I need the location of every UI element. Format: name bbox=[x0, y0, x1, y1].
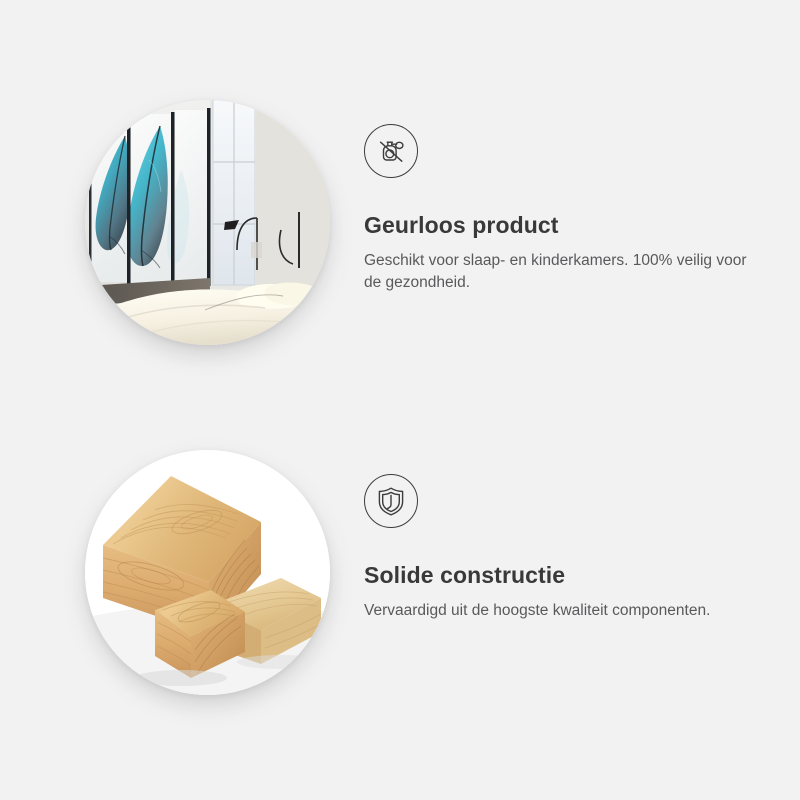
feature-photo-wrapper bbox=[85, 100, 330, 345]
feature-photo-wrapper bbox=[85, 450, 330, 695]
feature-title: Solide constructie bbox=[364, 562, 760, 590]
feature-text-column: Solide constructie Vervaardigd uit de ho… bbox=[360, 450, 760, 622]
product-feature-page: Geurloos product Geschikt voor slaap- en… bbox=[0, 0, 800, 800]
wooden-beams-photo bbox=[85, 450, 330, 695]
section-divider bbox=[0, 400, 800, 401]
bedroom-feather-artwork-photo bbox=[85, 100, 330, 345]
no-fragrance-icon bbox=[364, 124, 418, 178]
feature-description: Geschikt voor slaap- en kinderkamers. 10… bbox=[364, 250, 749, 295]
feature-title: Geurloos product bbox=[364, 212, 760, 240]
feature-description: Vervaardigd uit de hoogste kwaliteit com… bbox=[364, 600, 749, 622]
shield-check-icon bbox=[364, 474, 418, 528]
feature-text-column: Geurloos product Geschikt voor slaap- en… bbox=[360, 100, 760, 295]
